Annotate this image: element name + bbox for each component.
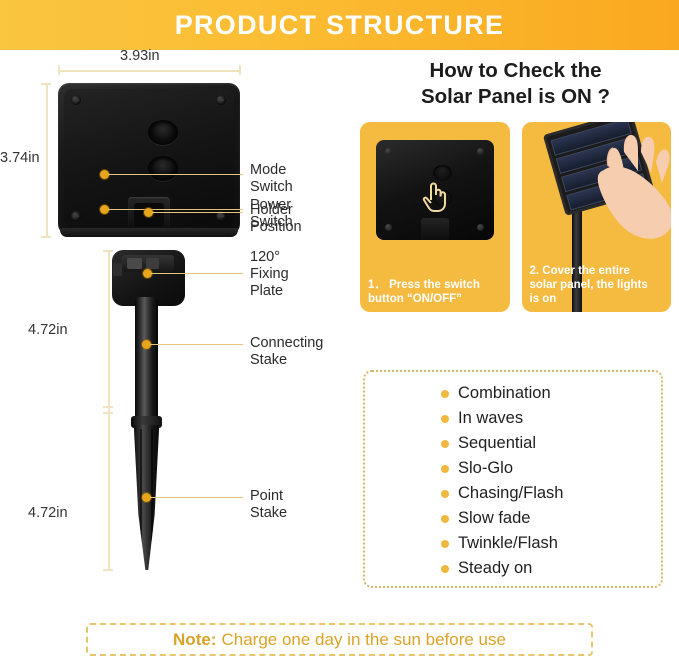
callout-connecting-stake: Connecting Stake [250, 335, 323, 369]
card1-caption-line2: button “ON/OFF” [368, 292, 504, 306]
how-to-card-press-switch: 1． Press the switch button “ON/OFF” [360, 122, 510, 312]
bullet-icon [441, 440, 449, 448]
card2-caption-line3: is on [530, 292, 666, 306]
callout-leader-mode-switch [108, 174, 243, 175]
mode-label: In waves [458, 409, 523, 428]
callout-point-stake: Point Stake [250, 488, 287, 522]
card1-holder-bracket [421, 218, 449, 240]
height-dimension-line [46, 83, 48, 237]
stake-dimension-line [108, 250, 110, 570]
callout-leader-point-stake [150, 497, 243, 498]
card2-caption-line1: 2. Cover the entire [530, 264, 666, 278]
pointing-hand-icon [420, 180, 450, 219]
callout-holder-position-line1: Holder [250, 202, 302, 219]
mode-item: Combination [365, 381, 661, 406]
callout-fixing-plate-line2: Fixing [250, 266, 289, 283]
callout-connecting-stake-line2: Stake [250, 352, 323, 369]
covering-hand-icon [594, 130, 672, 250]
stake-dimension-tick-bottom [103, 569, 113, 571]
width-dimension-tick-left [58, 65, 60, 75]
callout-leader-power-switch [108, 209, 243, 210]
mode-item: Chasing/Flash [365, 481, 661, 506]
mode-item: Slo-Glo [365, 456, 661, 481]
stake-rib-right [151, 429, 153, 541]
how-to-card-cover-panel: 2. Cover the entire solar panel, the lig… [522, 122, 672, 312]
bullet-icon [441, 540, 449, 548]
bullet-icon [441, 390, 449, 398]
stake-dimension-tick-mid-a [103, 406, 113, 408]
width-dimension-tick-right [239, 65, 241, 75]
mode-label: Twinkle/Flash [458, 534, 558, 553]
mode-label: Slow fade [458, 509, 530, 528]
mode-label: Slo-Glo [458, 459, 513, 478]
product-structure-diagram: 3.93in 3.74in 4.72in 4.72in Mode Switch [0, 50, 350, 610]
panel-screw-bottom-left [71, 211, 81, 221]
bullet-icon [441, 415, 449, 423]
how-to-check-cards: 1． Press the switch button “ON/OFF” [352, 122, 679, 312]
callout-point-stake-line1: Point [250, 488, 287, 505]
lighting-modes-list: Combination In waves Sequential Slo-Glo … [365, 381, 661, 581]
mode-item: In waves [365, 406, 661, 431]
card1-caption-line1: 1． Press the switch [368, 278, 504, 292]
width-dimension-label: 3.93in [120, 48, 160, 64]
panel-screw-top-left [71, 95, 81, 105]
card2-caption: 2. Cover the entire solar panel, the lig… [530, 264, 666, 306]
how-to-check-title-line1: How to Check the [352, 58, 679, 84]
callout-leader-connecting-stake [150, 344, 243, 345]
card1-screw-bottom-left [385, 224, 392, 231]
callout-leader-holder-position [152, 212, 243, 213]
how-to-check-section: How to Check the Solar Panel is ON ? [352, 58, 679, 312]
stake-rib-left [140, 429, 142, 549]
note-label: Note: [173, 630, 216, 650]
card2-caption-line2: solar panel, the lights [530, 278, 666, 292]
page-header: PRODUCT STRUCTURE [0, 0, 679, 50]
panel-screw-top-right [216, 95, 226, 105]
callout-leader-fixing-plate [151, 273, 243, 274]
charge-note: Note: Charge one day in the sun before u… [86, 623, 593, 656]
callout-mode-switch-line1: Mode [250, 162, 293, 179]
bullet-icon [441, 565, 449, 573]
mode-item: Slow fade [365, 506, 661, 531]
mode-switch-button[interactable] [148, 120, 178, 145]
card1-mode-switch [433, 165, 452, 181]
card1-screw-top-left [385, 148, 392, 155]
mode-item: Sequential [365, 431, 661, 456]
note-text: Charge one day in the sun before use [221, 630, 505, 650]
card1-screw-bottom-right [477, 224, 484, 231]
mode-item: Steady on [365, 556, 661, 581]
callout-fixing-plate-line3: Plate [250, 283, 289, 300]
callout-fixing-plate-line1: 120° [250, 249, 289, 266]
bullet-icon [441, 490, 449, 498]
lighting-modes-box: Combination In waves Sequential Slo-Glo … [363, 370, 663, 588]
card1-screw-top-right [477, 148, 484, 155]
callout-holder-position: Holder Position [250, 202, 302, 236]
height-dimension-label: 3.74in [0, 150, 40, 166]
stake-dimension-tick-mid-b [103, 412, 113, 414]
mode-label: Combination [458, 384, 551, 403]
power-switch-button[interactable] [148, 156, 178, 181]
callout-mode-switch: Mode Switch [250, 162, 293, 196]
width-dimension-line [58, 70, 240, 72]
callout-point-stake-line2: Stake [250, 505, 287, 522]
mode-item: Twinkle/Flash [365, 531, 661, 556]
callout-holder-position-line2: Position [250, 219, 302, 236]
callout-fixing-plate: 120° Fixing Plate [250, 249, 289, 300]
bullet-icon [441, 515, 449, 523]
bullet-icon [441, 465, 449, 473]
how-to-check-title-line2: Solar Panel is ON ? [352, 84, 679, 110]
stake-dimension-tick-top [103, 250, 113, 252]
card1-caption: 1． Press the switch button “ON/OFF” [368, 278, 504, 306]
panel-bottom-edge [60, 228, 238, 237]
stake-lower-dimension-label: 4.72in [28, 505, 68, 521]
fixing-plate-side-nub [113, 263, 122, 276]
callout-mode-switch-line2: Switch [250, 179, 293, 196]
how-to-check-title: How to Check the Solar Panel is ON ? [352, 58, 679, 110]
mode-label: Steady on [458, 559, 532, 578]
mode-label: Chasing/Flash [458, 484, 563, 503]
stake-upper-dimension-label: 4.72in [28, 322, 68, 338]
mode-label: Sequential [458, 434, 536, 453]
callout-connecting-stake-line1: Connecting [250, 335, 323, 352]
height-dimension-tick-top [41, 83, 51, 85]
connecting-stake [135, 297, 158, 422]
height-dimension-tick-bottom [41, 236, 51, 238]
page-title: PRODUCT STRUCTURE [175, 10, 505, 41]
